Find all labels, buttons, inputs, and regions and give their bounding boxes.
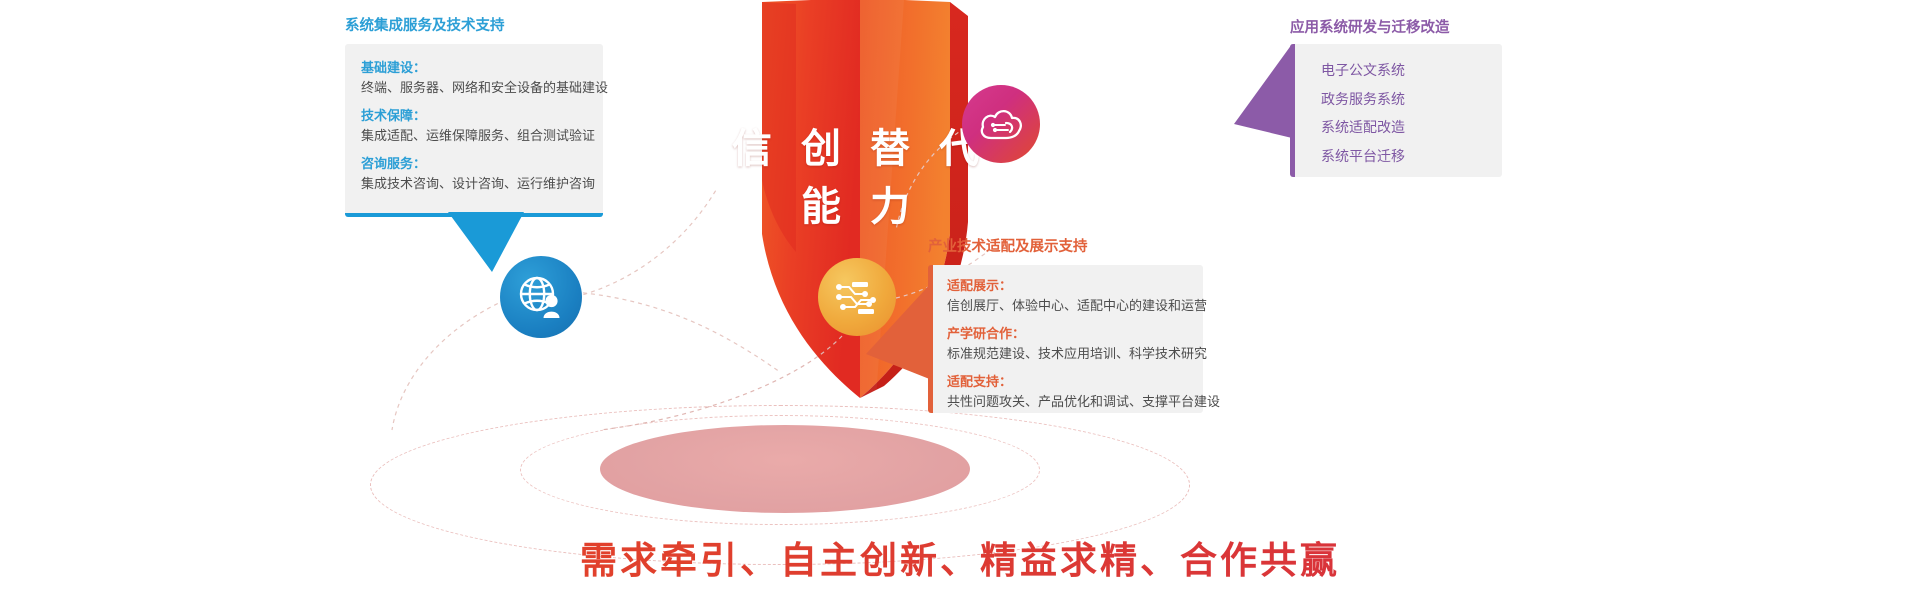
left-entry-2: 咨询服务： 集成技术咨询、设计咨询、运行维护咨询 bbox=[361, 154, 587, 195]
left-entry-1: 技术保障： 集成适配、运维保障服务、组合测试验证 bbox=[361, 106, 587, 147]
bottom-panel-card[interactable]: 适配展示： 信创展厅、体验中心、适配中心的建设和运营 产学研合作： 标准规范建设… bbox=[928, 265, 1203, 413]
circuit-chip-icon[interactable] bbox=[818, 258, 896, 336]
left-entry-0-value: 终端、服务器、网络和安全设备的基础建设 bbox=[361, 78, 587, 99]
cloud-icon[interactable] bbox=[962, 85, 1040, 163]
bottom-entry-2-value: 共性问题攻关、产品优化和调试、支撑平台建设 bbox=[947, 392, 1203, 413]
left-entry-2-value: 集成技术咨询、设计咨询、运行维护咨询 bbox=[361, 174, 587, 195]
left-panel-title: 系统集成服务及技术支持 bbox=[345, 14, 505, 35]
right-list-item-2: 系统适配改造 bbox=[1321, 113, 1502, 142]
bottom-entry-0-key: 适配展示： bbox=[947, 276, 1203, 296]
slogan-text: 需求牵引、自主创新、精益求精、合作共赢 bbox=[0, 530, 1920, 584]
left-panel-card[interactable]: 基础建设： 终端、服务器、网络和安全设备的基础建设 技术保障： 集成适配、运维保… bbox=[345, 44, 603, 217]
left-entry-2-key: 咨询服务： bbox=[361, 154, 587, 174]
bottom-entry-0: 适配展示： 信创展厅、体验中心、适配中心的建设和运营 bbox=[947, 276, 1203, 317]
bottom-entry-1-key: 产学研合作： bbox=[947, 324, 1203, 344]
right-panel-title: 应用系统研发与迁移改造 bbox=[1290, 16, 1450, 37]
infographic-canvas: 信 创 替 代 能 力 系统集成服务及技术支持 基础建设： 终端、服务器、网络和… bbox=[0, 0, 1920, 605]
left-entry-0: 基础建设： 终端、服务器、网络和安全设备的基础建设 bbox=[361, 58, 587, 99]
bottom-panel-title: 产业技术适配及展示支持 bbox=[928, 235, 1088, 256]
right-list-item-1: 政务服务系统 bbox=[1321, 85, 1502, 114]
bottom-entry-0-value: 信创展厅、体验中心、适配中心的建设和运营 bbox=[947, 296, 1203, 317]
bottom-entry-1-value: 标准规范建设、技术应用培训、科学技术研究 bbox=[947, 344, 1203, 365]
left-entry-1-value: 集成适配、运维保障服务、组合测试验证 bbox=[361, 126, 587, 147]
right-list-item-3: 系统平台迁移 bbox=[1321, 142, 1502, 171]
right-panel-pointer bbox=[1232, 42, 1296, 154]
shield-title-line2: 能 力 bbox=[700, 178, 1020, 236]
left-entry-0-key: 基础建设： bbox=[361, 58, 587, 78]
left-entry-1-key: 技术保障： bbox=[361, 106, 587, 126]
right-list-item-0: 电子公文系统 bbox=[1321, 56, 1502, 85]
bottom-entry-2: 适配支持： 共性问题攻关、产品优化和调试、支撑平台建设 bbox=[947, 372, 1203, 413]
bottom-entry-1: 产学研合作： 标准规范建设、技术应用培训、科学技术研究 bbox=[947, 324, 1203, 365]
right-panel-card[interactable]: 电子公文系统 政务服务系统 系统适配改造 系统平台迁移 bbox=[1290, 44, 1502, 177]
bottom-entry-2-key: 适配支持： bbox=[947, 372, 1203, 392]
globe-user-icon[interactable] bbox=[500, 256, 582, 338]
